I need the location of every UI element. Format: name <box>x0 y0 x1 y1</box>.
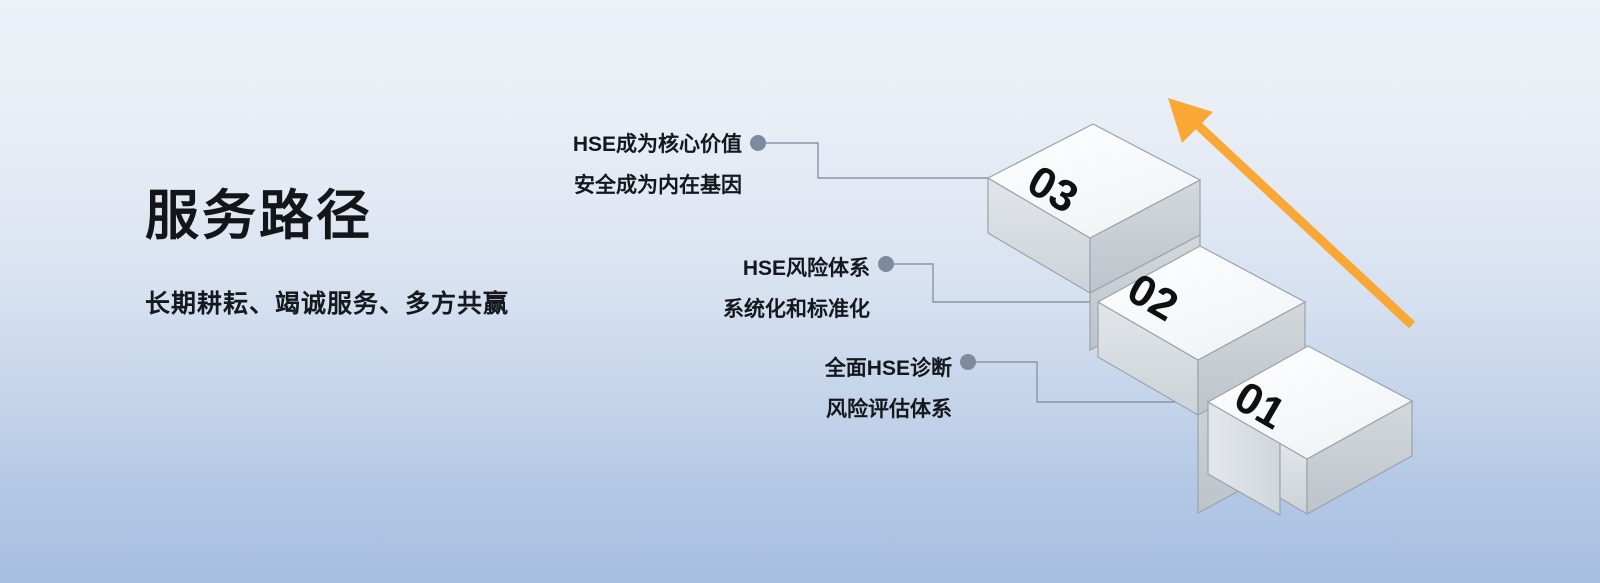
callout-03-line2: 安全成为内在基因 <box>400 175 742 196</box>
connector-dot-02 <box>878 256 894 272</box>
callout-step-01: 全面HSE诊断 风险评估体系 <box>640 358 952 420</box>
callout-03-line1: HSE成为核心价值 <box>400 134 742 155</box>
callout-step-03: HSE成为核心价值 安全成为内在基因 <box>400 134 742 196</box>
callout-02-line2: 系统化和标准化 <box>520 299 870 320</box>
callout-01-line1: 全面HSE诊断 <box>640 358 952 379</box>
connector-dot-01 <box>960 354 976 370</box>
connector-step-03 <box>750 135 990 178</box>
connector-dot-03 <box>750 135 766 151</box>
connector-line-03 <box>766 143 990 178</box>
callout-01-line2: 风险评估体系 <box>640 399 952 420</box>
slide-canvas: 服务路径 长期耕耘、竭诚服务、多方共赢 <box>0 0 1600 583</box>
callout-02-line1: HSE风险体系 <box>520 258 870 279</box>
callout-step-02: HSE风险体系 系统化和标准化 <box>520 258 870 320</box>
